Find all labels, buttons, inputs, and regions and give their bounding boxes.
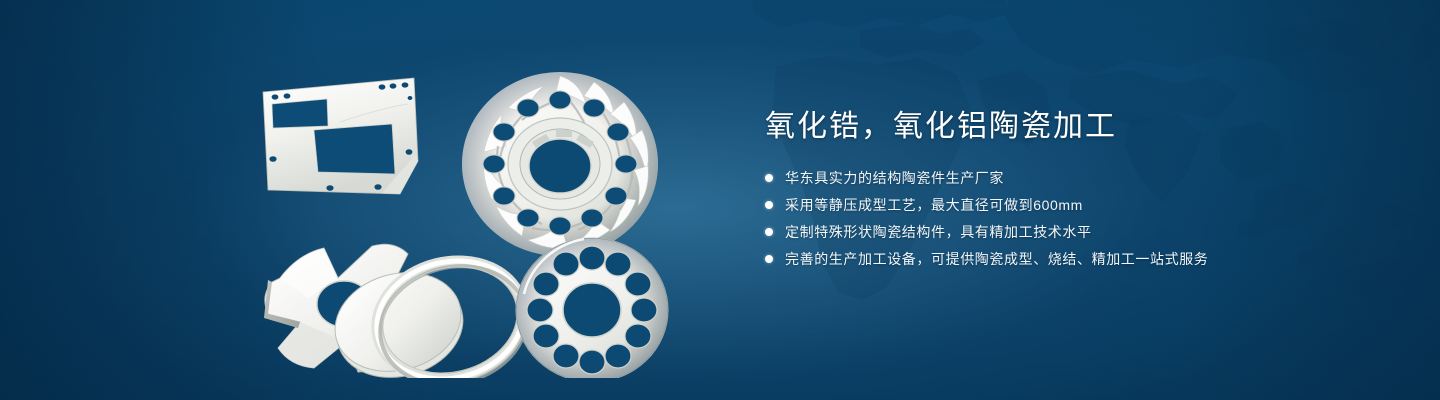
bullet-text: 华东具实力的结构陶瓷件生产厂家	[785, 168, 1004, 188]
ceramic-impeller-photo	[462, 72, 658, 256]
list-item: 采用等静压成型工艺，最大直径可做到600mm	[765, 195, 1385, 215]
product-photo-group	[232, 42, 684, 378]
list-item: 华东具实力的结构陶瓷件生产厂家	[765, 168, 1385, 188]
bullet-text: 定制特殊形状陶瓷结构件，具有精加工技术水平	[785, 222, 1092, 242]
banner-copy: 氧化锆，氧化铝陶瓷加工 华东具实力的结构陶瓷件生产厂家 采用等静压成型工艺，最大…	[765, 108, 1385, 285]
banner-headline: 氧化锆，氧化铝陶瓷加工	[765, 108, 1385, 146]
list-item: 定制特殊形状陶瓷结构件，具有精加工技术水平	[765, 222, 1385, 242]
ceramic-base-plate-photo	[260, 76, 418, 196]
bullet-dot-icon	[765, 228, 773, 236]
hero-banner: 氧化锆，氧化铝陶瓷加工 华东具实力的结构陶瓷件生产厂家 采用等静压成型工艺，最大…	[0, 0, 1440, 400]
bullet-dot-icon	[765, 174, 773, 182]
ceramic-perforated-disc-photo	[516, 238, 668, 378]
list-item: 完善的生产加工设备，可提供陶瓷成型、烧结、精加工一站式服务	[765, 249, 1385, 269]
bullet-dot-icon	[765, 201, 773, 209]
bullet-text: 完善的生产加工设备，可提供陶瓷成型、烧结、精加工一站式服务	[785, 249, 1208, 269]
bullet-text: 采用等静压成型工艺，最大直径可做到600mm	[785, 195, 1083, 215]
banner-feature-list: 华东具实力的结构陶瓷件生产厂家 采用等静压成型工艺，最大直径可做到600mm 定…	[765, 168, 1385, 269]
bullet-dot-icon	[765, 255, 773, 263]
